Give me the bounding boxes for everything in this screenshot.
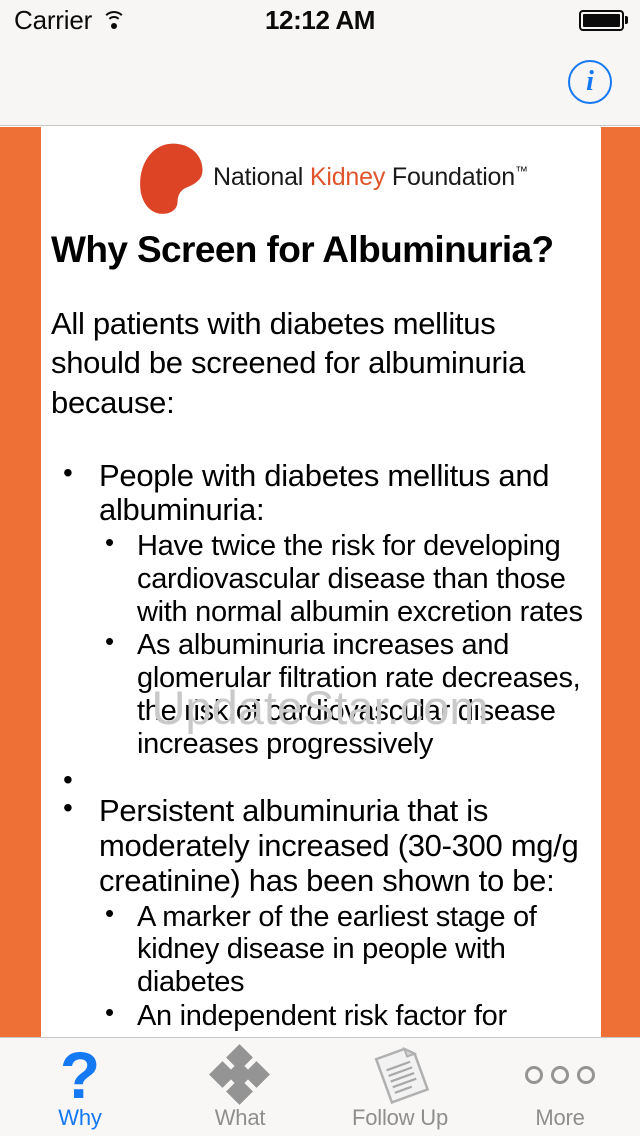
- tab-label-why: Why: [58, 1105, 101, 1131]
- list-item: As albuminuria increases and glomerular …: [99, 629, 591, 760]
- tab-label-more: More: [535, 1105, 584, 1131]
- list-item: Persistent albuminuria that is moderatel…: [51, 794, 591, 1037]
- lead-paragraph: All patients with diabetes mellitus shou…: [51, 304, 591, 423]
- tab-label-follow-up: Follow Up: [352, 1105, 448, 1131]
- diamond-cluster-icon: [212, 1046, 268, 1104]
- battery-cap-icon: [625, 16, 628, 24]
- list-item: People with diabetes mellitus and albumi…: [51, 459, 591, 761]
- tab-why[interactable]: ? Why: [0, 1038, 160, 1136]
- battery-icon: [579, 10, 624, 31]
- bullet-list-level1: People with diabetes mellitus and albumi…: [51, 459, 591, 1037]
- brand-text-national: National: [213, 163, 310, 191]
- list-spacer: [51, 766, 591, 794]
- bullet-list-level2: Have twice the risk for developing cardi…: [99, 530, 591, 760]
- info-icon[interactable]: i: [568, 60, 612, 104]
- slide-content: Why Screen for Albuminuria? All patients…: [41, 229, 601, 1037]
- status-bar: Carrier 12:12 AM: [0, 0, 640, 40]
- list-item: An independent risk factor for progressi…: [99, 1000, 591, 1037]
- list-item: Have twice the risk for developing cardi…: [99, 530, 591, 628]
- list-item: A marker of the earliest stage of kidney…: [99, 901, 591, 999]
- document-page-icon: [369, 1046, 431, 1104]
- clock-label: 12:12 AM: [0, 5, 640, 36]
- tab-what[interactable]: What: [160, 1038, 320, 1136]
- tab-more[interactable]: More: [480, 1038, 640, 1136]
- bullet-list-level2: A marker of the earliest stage of kidney…: [99, 901, 591, 1037]
- page-title: Why Screen for Albuminuria?: [51, 229, 591, 272]
- kidney-bean-logo: [137, 139, 215, 217]
- navigation-bar: i: [0, 40, 640, 126]
- bullet-text: People with diabetes mellitus and albumi…: [99, 459, 591, 528]
- trademark-symbol: ™: [515, 164, 528, 179]
- app-screen: Carrier 12:12 AM i National Kidney Found…: [0, 0, 640, 1136]
- three-circles-icon: [525, 1046, 595, 1104]
- question-mark-icon: ?: [60, 1046, 100, 1104]
- tab-follow-up[interactable]: Follow Up: [320, 1038, 480, 1136]
- brand-text-foundation: Foundation: [385, 163, 515, 191]
- brand-wordmark: National Kidney Foundation™: [213, 163, 528, 192]
- slide-container: National Kidney Foundation™ Why Screen f…: [0, 127, 640, 1037]
- brand-header: National Kidney Foundation™: [41, 135, 601, 223]
- bullet-text: Persistent albuminuria that is moderatel…: [99, 794, 591, 898]
- status-bar-right: [579, 10, 628, 31]
- tab-label-what: What: [215, 1105, 266, 1131]
- tab-bar: ? Why What: [0, 1037, 640, 1136]
- brand-text-kidney: Kidney: [310, 163, 385, 191]
